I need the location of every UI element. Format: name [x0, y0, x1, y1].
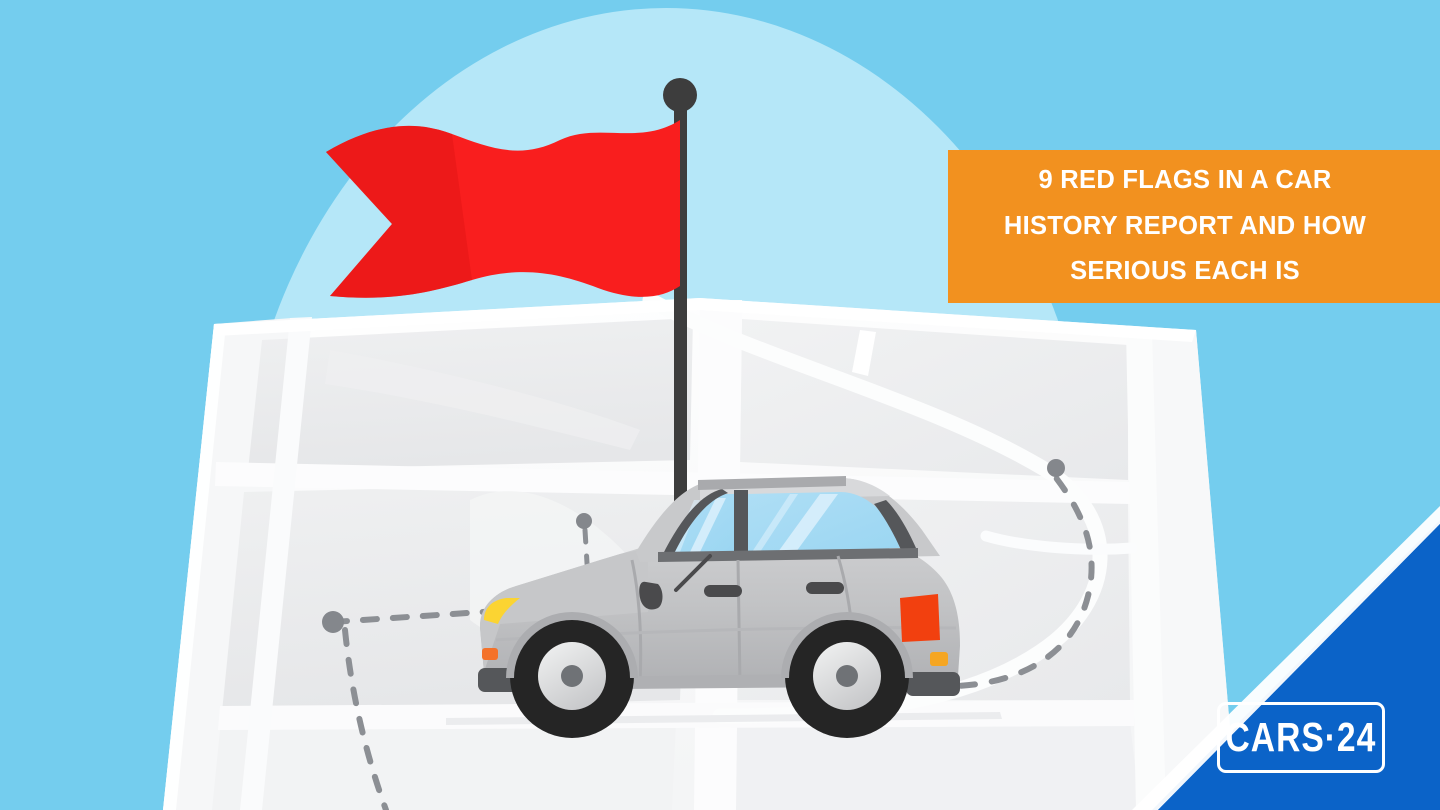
headline-title: 9 RED FLAGS IN A CAR HISTORY REPORT AND … — [979, 158, 1409, 294]
car-taillight — [900, 594, 940, 642]
car-front-marker-light — [482, 648, 498, 660]
route-dot-left — [322, 611, 344, 633]
map-panel-bottom-left — [212, 722, 676, 810]
headline-banner: 9 RED FLAGS IN A CAR HISTORY REPORT AND … — [948, 150, 1440, 303]
car-rear-marker-light — [930, 652, 948, 666]
flag-pole-finial — [663, 78, 697, 112]
car-door-seam-middle — [738, 560, 740, 684]
car-door-handle-rear — [806, 582, 844, 594]
poster-canvas: 9 RED FLAGS IN A CAR HISTORY REPORT AND … — [0, 0, 1440, 810]
route-dot-upper — [576, 513, 592, 529]
brand-logo-badge[interactable]: CARS·24 — [1217, 702, 1385, 773]
illustration-artwork — [0, 0, 1440, 810]
map-panel-bottom-right — [728, 722, 1140, 810]
map-panel-top-right — [740, 319, 1128, 480]
car-b-pillar — [734, 490, 748, 556]
brand-logo-text: CARS·24 — [1226, 717, 1377, 758]
route-dot-right — [1047, 459, 1065, 477]
car-rear-bumper — [906, 672, 960, 696]
car-door-handle-front — [704, 585, 742, 597]
